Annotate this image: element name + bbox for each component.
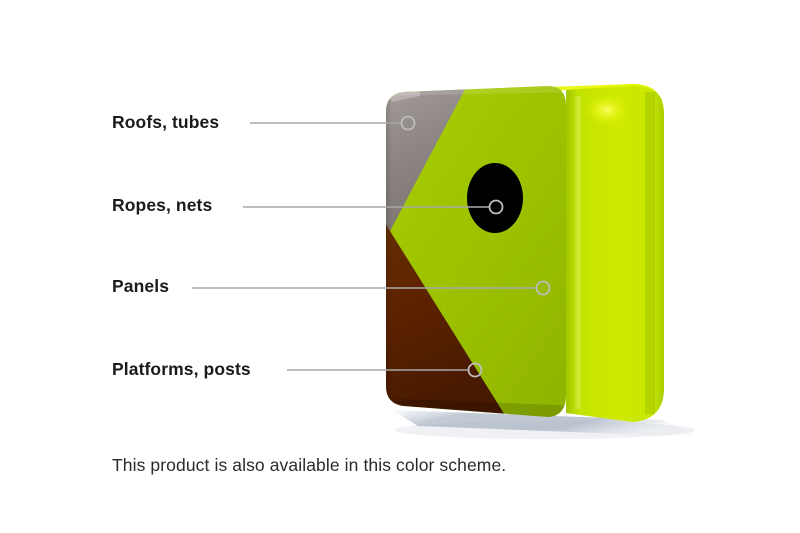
- callout-label-roofs-tubes: Roofs, tubes: [112, 114, 219, 132]
- product-illustration: [0, 0, 800, 533]
- specular-highlight: [585, 94, 629, 126]
- callout-label-ropes-nets: Ropes, nets: [112, 197, 212, 215]
- figure-caption: This product is also available in this c…: [112, 457, 506, 475]
- callout-label-panels: Panels: [112, 278, 169, 296]
- camera-hole: [467, 163, 523, 233]
- callout-label-platforms-posts: Platforms, posts: [112, 361, 251, 379]
- figure-canvas: Roofs, tubes Ropes, nets Panels Platform…: [0, 0, 800, 533]
- box-side-face: [566, 84, 664, 422]
